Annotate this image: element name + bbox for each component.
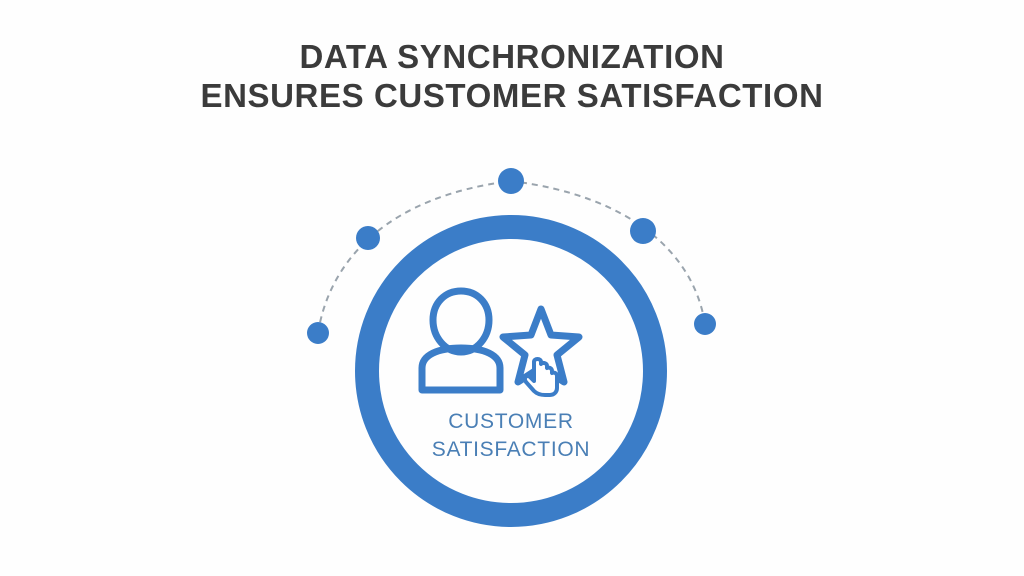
customer-satisfaction-graphic: [0, 0, 1024, 576]
main-ring: [367, 227, 655, 515]
center-icon-group: [422, 291, 579, 395]
arc-dot-1: [307, 322, 329, 344]
arc-dot-4: [630, 218, 656, 244]
arc-dot-2: [356, 226, 380, 250]
slide-canvas: DATA SYNCHRONIZATION ENSURES CUSTOMER SA…: [0, 0, 1024, 576]
arc-dot-3: [498, 168, 524, 194]
arc-dot-5: [694, 313, 716, 335]
person-head-icon: [433, 291, 489, 352]
